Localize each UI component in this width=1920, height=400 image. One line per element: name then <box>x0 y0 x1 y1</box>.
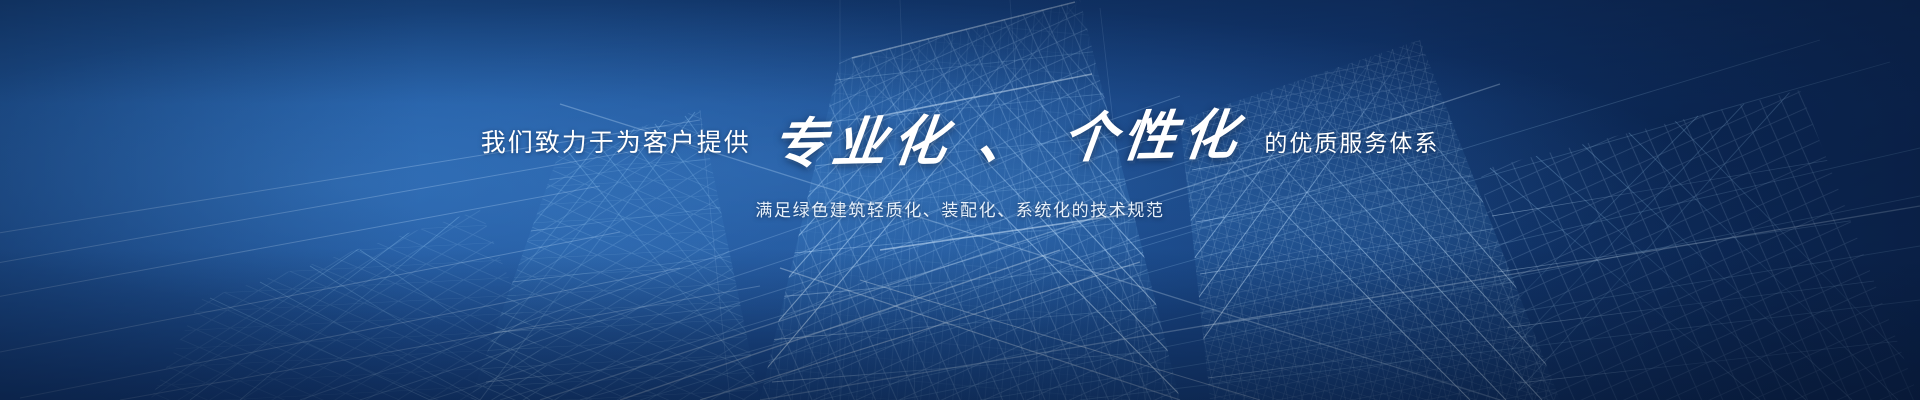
headline-brush-text: 专业化 、 个性化 <box>761 107 1254 171</box>
headline-row: 我们致力于为客户提供 专业化 、 个性化 的优质服务体系 <box>0 112 1920 166</box>
headline-trail-text: 的优质服务体系 <box>1264 123 1439 156</box>
banner-copy: 我们致力于为客户提供 专业化 、 个性化 的优质服务体系 满足绿色建筑轻质化、装… <box>0 112 1920 221</box>
structure-lower-left <box>130 190 590 400</box>
banner-subline: 满足绿色建筑轻质化、装配化、系统化的技术规范 <box>0 196 1920 221</box>
headline-lead-text: 我们致力于为客户提供 <box>481 124 751 155</box>
hero-banner: 我们致力于为客户提供 专业化 、 个性化 的优质服务体系 满足绿色建筑轻质化、装… <box>0 0 1920 400</box>
foreground-beams <box>620 250 1260 400</box>
